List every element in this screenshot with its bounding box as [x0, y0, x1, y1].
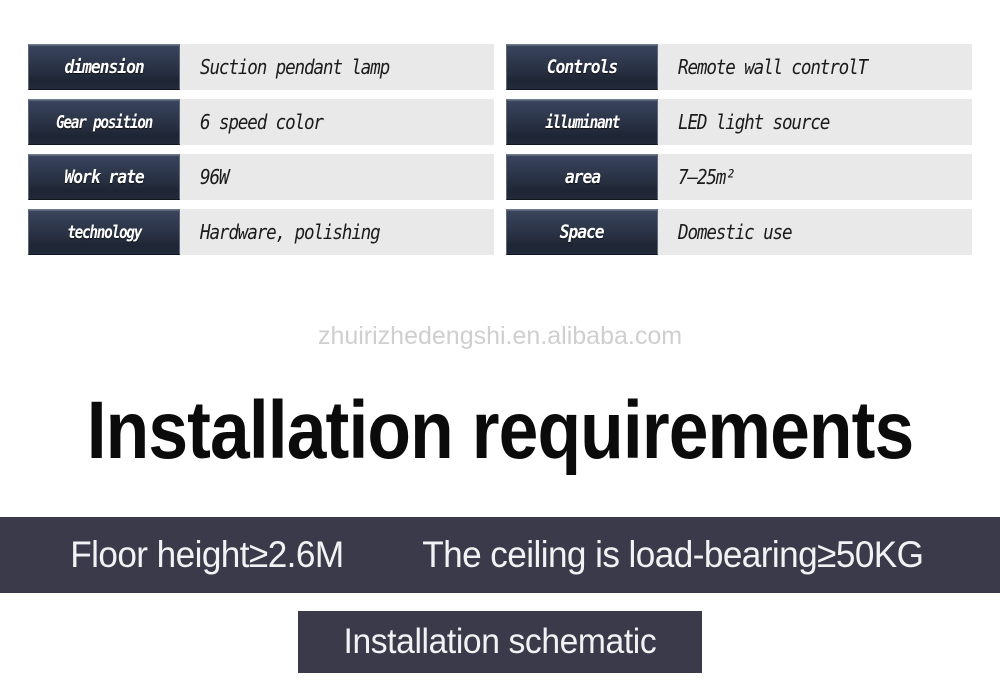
table-row: Work rate 96W	[28, 154, 494, 200]
spec-column-right: Controls Remote wall controlT illuminant…	[506, 44, 972, 255]
spec-value-cell: 7–25m²	[658, 154, 972, 200]
table-row: dimension Suction pendant lamp	[28, 44, 494, 90]
watermark: zhuirizhedengshi.en.alibaba.com	[0, 322, 1000, 351]
page-title: Installation requirements	[65, 386, 935, 476]
spec-label-text: Controls	[547, 56, 617, 78]
spec-value-cell: Remote wall controlT	[658, 44, 972, 90]
spec-label-text: technology	[67, 222, 141, 243]
spec-label-cell: Gear position	[28, 99, 180, 145]
spec-label-text: illuminant	[545, 112, 619, 133]
table-row: Controls Remote wall controlT	[506, 44, 972, 90]
spec-value-cell: 96W	[180, 154, 494, 200]
spec-label-cell: Controls	[506, 44, 658, 90]
spec-label-cell: illuminant	[506, 99, 658, 145]
spec-value-cell: 6 speed color	[180, 99, 494, 145]
requirement-ceiling-load: The ceiling is load-bearing≥50KG	[422, 534, 923, 576]
schematic-label: Installation schematic	[344, 622, 657, 662]
spec-value-text: LED light source	[678, 110, 829, 134]
spec-value-text: Remote wall controlT	[678, 55, 867, 79]
table-row: Gear position 6 speed color	[28, 99, 494, 145]
spec-label-text: Space	[560, 221, 604, 243]
table-row: area 7–25m²	[506, 154, 972, 200]
spec-value-text: Suction pendant lamp	[200, 55, 389, 79]
spec-value-text: Hardware, polishing	[200, 220, 380, 244]
requirement-floor-height: Floor height≥2.6M	[70, 534, 343, 576]
spec-label-text: Work rate	[64, 166, 143, 188]
spec-label-text: Gear position	[56, 112, 152, 133]
spec-value-cell: LED light source	[658, 99, 972, 145]
table-row: illuminant LED light source	[506, 99, 972, 145]
specification-table: dimension Suction pendant lamp Gear posi…	[28, 44, 972, 255]
spec-label-cell: Space	[506, 209, 658, 255]
spec-label-cell: dimension	[28, 44, 180, 90]
spec-value-cell: Suction pendant lamp	[180, 44, 494, 90]
spec-label-cell: area	[506, 154, 658, 200]
schematic-section-header: Installation schematic	[298, 611, 702, 673]
requirements-band: Floor height≥2.6M The ceiling is load-be…	[0, 517, 1000, 593]
spec-value-text: Domestic use	[678, 220, 791, 244]
table-row: technology Hardware, polishing	[28, 209, 494, 255]
spec-label-text: dimension	[64, 56, 143, 78]
table-row: Space Domestic use	[506, 209, 972, 255]
spec-label-text: area	[564, 166, 599, 188]
spec-value-text: 7–25m²	[678, 165, 735, 189]
spec-label-cell: technology	[28, 209, 180, 255]
spec-value-text: 96W	[200, 165, 228, 189]
spec-value-text: 6 speed color	[200, 110, 323, 134]
spec-value-cell: Domestic use	[658, 209, 972, 255]
spec-value-cell: Hardware, polishing	[180, 209, 494, 255]
spec-label-cell: Work rate	[28, 154, 180, 200]
spec-column-left: dimension Suction pendant lamp Gear posi…	[28, 44, 494, 255]
